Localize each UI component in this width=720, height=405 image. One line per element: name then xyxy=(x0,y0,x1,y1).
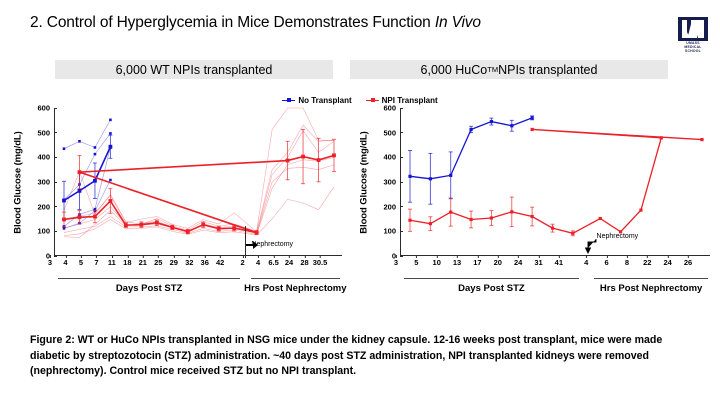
x-tick-label: 31 xyxy=(534,258,542,267)
x-tick-label: 13 xyxy=(453,258,461,267)
group-label-hrs-post-nephrectomy: Hrs Post Nephrectomy xyxy=(244,283,346,294)
y-tick-label: 400 xyxy=(372,153,400,162)
y-tick-label: 400 xyxy=(26,153,54,162)
y-tick-label: 300 xyxy=(372,178,400,187)
legend-label-no-transplant: No Transplant xyxy=(298,96,351,105)
panel-header-right-label-post: NPIs transplanted xyxy=(498,63,597,77)
x-tick-label: 8 xyxy=(625,258,629,267)
page-title-italic: In Vivo xyxy=(435,14,481,31)
x-tick-label: 17 xyxy=(473,258,481,267)
x-tick-label: 24 xyxy=(514,258,522,267)
group-bracket-hrs-post-nephrectomy xyxy=(594,278,708,279)
x-tick-label: 29 xyxy=(170,258,178,267)
x-tick-label: 21 xyxy=(139,258,147,267)
x-tick-label: 4 xyxy=(63,258,67,267)
umass-logo-mark xyxy=(678,17,708,41)
panel-header-left-label: 6,000 WT NPIs transplanted xyxy=(116,63,273,77)
x-tick-label: 5 xyxy=(79,258,83,267)
y-axis-label-right: Blood Glucose (mg/dL) xyxy=(358,108,371,256)
y-tick-label: 300 xyxy=(26,178,54,187)
group-bracket-days-post-stz xyxy=(404,278,579,279)
x-tick-label: 22 xyxy=(643,258,651,267)
y-axis-label-right-text: Blood Glucose (mg/dL) xyxy=(359,131,370,233)
x-tick-label: 24 xyxy=(663,258,671,267)
x-tick-label: 6.5 xyxy=(268,258,278,267)
x-tick-label: 41 xyxy=(555,258,563,267)
umass-logo: UMASS MEDICAL SCHOOL xyxy=(678,17,711,53)
x-tick-label: 6 xyxy=(604,258,608,267)
nephrectomy-arrow-icon xyxy=(585,238,599,254)
y-tick-label: 600 xyxy=(26,104,54,113)
legend-item-no-transplant: No Transplant xyxy=(282,96,351,105)
y-tick-label: 200 xyxy=(26,202,54,211)
y-axis-label-left-text: Blood Glucose (mg/dL) xyxy=(13,131,24,233)
group-bracket-hrs-post-nephrectomy xyxy=(251,278,340,279)
x-tick-label: 25 xyxy=(154,258,162,267)
slide-root: 2. Control of Hyperglycemia in Mice Demo… xyxy=(0,0,720,405)
y-tick-label: 100 xyxy=(26,227,54,236)
y-tick-label: 500 xyxy=(372,128,400,137)
figure-caption: Figure 2: WT or HuCo NPIs transplanted i… xyxy=(30,333,698,380)
y-tick-label: 200 xyxy=(372,202,400,211)
panel-header-right-label-pre: 6,000 HuCo xyxy=(421,63,488,77)
x-tick-label: 11 xyxy=(108,258,116,267)
umass-logo-glyph xyxy=(678,17,708,41)
panel-header-right: 6,000 HuCoTM NPIs transplanted xyxy=(350,60,668,79)
x-tick-label: 2 xyxy=(241,258,245,267)
x-tick-label: 3 xyxy=(394,258,398,267)
x-tick-label: 18 xyxy=(123,258,131,267)
x-tick-label: 36 xyxy=(201,258,209,267)
x-tick-label: 28 xyxy=(300,258,308,267)
nephrectomy-arrow-icon xyxy=(245,238,259,254)
group-label-hrs-post-nephrectomy: Hrs Post Nephrectomy xyxy=(600,283,702,294)
x-tick-label: 4 xyxy=(256,258,260,267)
plot-area-right: 0100200300400500600 xyxy=(372,108,710,256)
x-tick-label: 3 xyxy=(48,258,52,267)
y-tick-label: 600 xyxy=(372,104,400,113)
plot-area-left: 0100200300400500600 xyxy=(26,108,342,256)
page-title-text: 2. Control of Hyperglycemia in Mice Demo… xyxy=(30,14,435,31)
data-series-right xyxy=(400,108,710,256)
group-bracket-days-post-stz xyxy=(58,278,240,279)
page-title: 2. Control of Hyperglycemia in Mice Demo… xyxy=(30,14,630,32)
chart-legend: No Transplant NPI Transplant xyxy=(0,96,720,105)
x-tick-label: 42 xyxy=(216,258,224,267)
y-axis-label-left: Blood Glucose (mg/dL) xyxy=(12,108,25,256)
group-label-days-post-stz: Days Post STZ xyxy=(116,283,183,294)
chart-left-wt-npi: Blood Glucose (mg/dL) 010020030040050060… xyxy=(12,108,342,303)
x-tick-group-left: 34571118212529323642246.5242830.5 xyxy=(40,258,342,272)
x-tick-label: 24 xyxy=(285,258,293,267)
legend-marker-blue-icon xyxy=(282,97,295,105)
umass-logo-line3: SCHOOL xyxy=(678,50,708,54)
figure-caption-lead: Figure 2: xyxy=(30,334,75,346)
figure-caption-text: WT or HuCo NPIs transplanted in NSG mice… xyxy=(30,334,662,377)
y-tick-label: 500 xyxy=(26,128,54,137)
x-tick-label: 20 xyxy=(494,258,502,267)
x-tick-label: 5 xyxy=(414,258,418,267)
x-tick-group-right: 3510131720243141468222426 xyxy=(386,258,710,272)
x-tick-label: 4 xyxy=(584,258,588,267)
nephrectomy-annotation-label: Nephrectomy xyxy=(597,233,639,240)
group-label-days-post-stz: Days Post STZ xyxy=(458,283,525,294)
panel-header-left: 6,000 WT NPIs transplanted xyxy=(55,60,333,79)
x-tick-label: 32 xyxy=(185,258,193,267)
x-tick-label: 10 xyxy=(433,258,441,267)
x-tick-label: 26 xyxy=(684,258,692,267)
chart-right-huco-npi: Blood Glucose (mg/dL) 010020030040050060… xyxy=(358,108,710,303)
y-tick-label: 100 xyxy=(372,227,400,236)
x-tick-label: 7 xyxy=(94,258,98,267)
x-tick-label: 30.5 xyxy=(313,258,328,267)
trademark-superscript: TM xyxy=(487,65,498,74)
data-series-left xyxy=(54,108,342,256)
